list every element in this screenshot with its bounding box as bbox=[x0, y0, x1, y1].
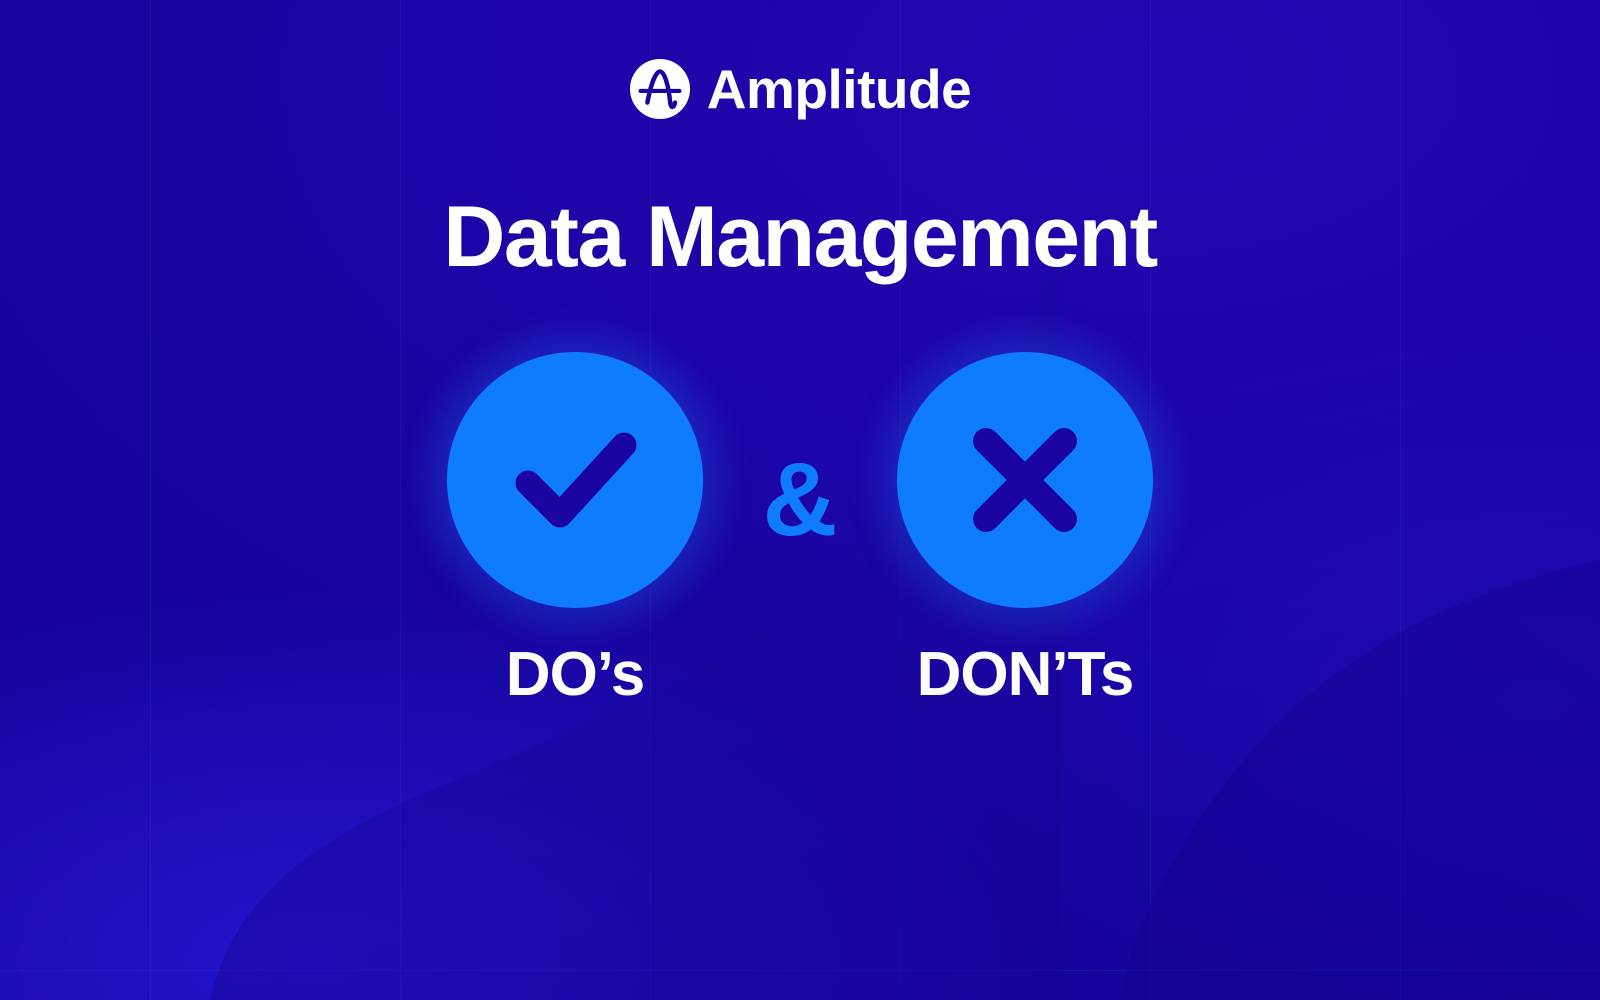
donts-column: DON’Ts bbox=[865, 352, 1185, 706]
brand-lockup: Amplitude bbox=[0, 58, 1600, 120]
grid-line-horizontal bbox=[0, 970, 1600, 971]
dos-badge[interactable] bbox=[447, 352, 703, 608]
poster-canvas: Amplitude Data Management DO’s & bbox=[0, 0, 1600, 1000]
amplitude-logo-icon bbox=[629, 58, 691, 120]
dos-column: DO’s bbox=[415, 352, 735, 706]
donts-badge-circle bbox=[897, 352, 1153, 608]
dos-badge-circle bbox=[447, 352, 703, 608]
ampersand-separator: & bbox=[735, 448, 865, 552]
dos-label: DO’s bbox=[506, 644, 644, 706]
dos-and-donts-row: DO’s & DON’Ts bbox=[0, 352, 1600, 706]
brand-wordmark: Amplitude bbox=[707, 62, 971, 117]
page-title: Data Management bbox=[0, 192, 1600, 282]
x-icon bbox=[932, 387, 1118, 573]
donts-label: DON’Ts bbox=[917, 644, 1134, 706]
donts-badge[interactable] bbox=[897, 352, 1153, 608]
check-icon bbox=[482, 387, 668, 573]
